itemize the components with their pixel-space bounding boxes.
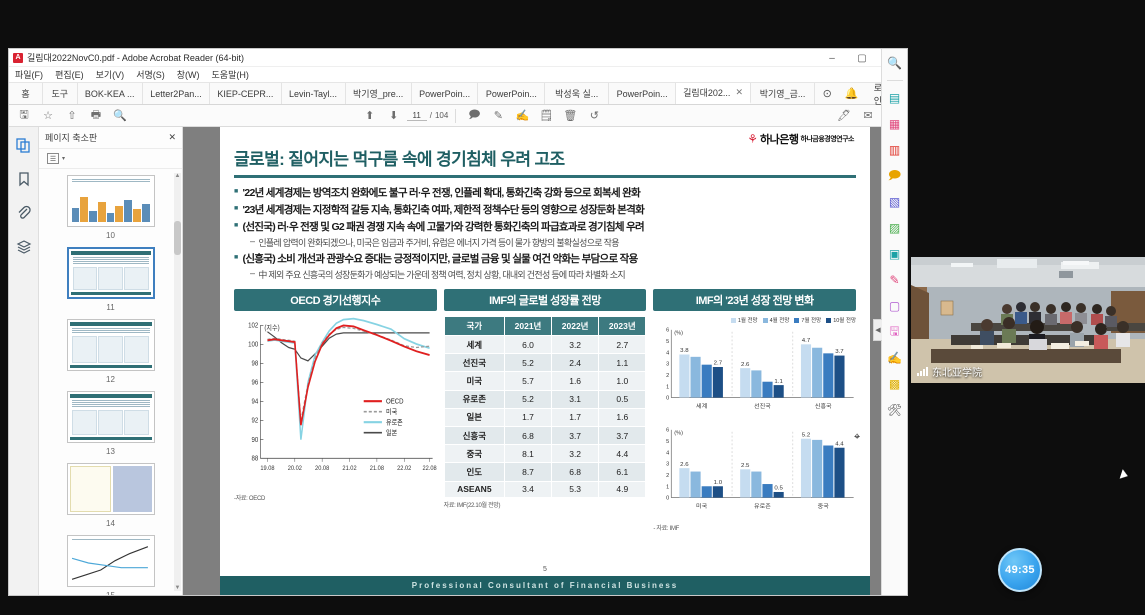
menu-file[interactable]: 파일(F) [15, 68, 43, 81]
table-row: 미국 5.7 1.6 1.0 [444, 372, 646, 390]
chart-panel-imf-table: IMF의 글로벌 성장률 전망 국가 2021년 2022년 2023년 [444, 289, 647, 564]
svg-text:4: 4 [666, 351, 669, 357]
table-row: ASEAN5 3.4 5.3 4.9 [444, 481, 646, 497]
svg-text:4.4: 4.4 [836, 441, 845, 447]
acrobat-body: 페이지 축소판 ✕ ☰ ▾ 1 [9, 127, 907, 595]
window-titlebar: A 길림대2022NovC0.pdf - Adobe Acrobat Reade… [9, 49, 907, 67]
page-title: 글로벌: 짙어지는 먹구름 속에 경기침체 우려 고조 [234, 145, 856, 170]
thumb-lines [70, 178, 152, 183]
attachment-icon[interactable] [14, 203, 34, 223]
svg-text:2.6: 2.6 [741, 362, 750, 368]
svg-text:21.02: 21.02 [342, 465, 357, 472]
scroll-up-icon[interactable]: ▲ [174, 173, 181, 179]
bullet-square-icon: ■ [234, 219, 238, 233]
table-row: 세계 6.0 3.2 2.7 [444, 336, 646, 354]
column-header: 2021년 [504, 317, 551, 336]
list-item: – 中 제외 주요 신흥국의 성장둔화가 예상되는 가운데 정책 여력, 정치 … [234, 268, 856, 281]
svg-text:2: 2 [666, 373, 669, 379]
svg-text:선진국: 선진국 [754, 402, 771, 410]
comment-icon[interactable]: 🗩 [463, 107, 485, 125]
svg-text:102: 102 [248, 322, 258, 329]
cell-2021: 8.1 [504, 445, 551, 463]
upload-cloud-icon[interactable]: ⇧ [61, 107, 83, 125]
tab-powerpoint-3[interactable]: PowerPoin... [609, 83, 676, 104]
combine-files-icon[interactable]: ▧ [886, 193, 904, 211]
menu-view[interactable]: 보기(V) [96, 68, 125, 81]
cell-country: 세계 [444, 336, 504, 354]
thumb-preview [70, 538, 152, 584]
cell-2021: 5.7 [504, 372, 551, 390]
current-page-input[interactable]: 11 [407, 111, 427, 121]
cell-2022: 3.7 [552, 426, 599, 444]
email-icon[interactable]: ✉ [857, 107, 879, 125]
compress-pdf-icon[interactable]: ▨ [886, 219, 904, 237]
legend-swatch [763, 318, 768, 323]
oecd-line-chart: 102 100 98 96 94 92 90 88 [234, 316, 437, 491]
thumb-right-page [113, 466, 152, 512]
layers-icon[interactable] [14, 237, 34, 257]
thumbnails-header: 페이지 축소판 ✕ [39, 127, 182, 149]
table-header-row: 국가 2021년 2022년 2023년 [444, 317, 646, 336]
redact-icon[interactable]: ▩ [886, 375, 904, 393]
pdf-page: ⚘ 하나은행 하나금융경영연구소 글로벌: 짙어지는 먹구름 속에 경기침체 우… [220, 127, 870, 595]
fill-sign-icon[interactable]: ✎ [886, 271, 904, 289]
title-divider [234, 175, 856, 178]
cell-country: 인도 [444, 463, 504, 481]
video-participant-tile[interactable]: 东北亚学院 [911, 257, 1145, 383]
bar-chart-top: 654 321 0 (%) [653, 324, 856, 416]
legend-swatch [794, 318, 799, 323]
cell-2022: 1.6 [552, 372, 599, 390]
cell-2022: 5.3 [552, 481, 599, 497]
menu-edit[interactable]: 편집(E) [55, 68, 84, 81]
thumbnail-page-number: 15 [39, 591, 182, 595]
thumb-bars [70, 184, 152, 224]
chart-panel-oecd: OECD 경기선행지수 102 [234, 289, 437, 564]
thumbnail-page-number: 11 [39, 303, 182, 312]
svg-text:90: 90 [252, 436, 259, 443]
bullet-dash-icon: – [250, 236, 254, 249]
thumb-line-chart [70, 542, 152, 584]
cell-2021: 5.2 [504, 390, 551, 408]
pdf-page-viewport[interactable]: ⚘ 하나은행 하나금융경영연구소 글로벌: 짙어지는 먹구름 속에 경기침체 우… [183, 127, 907, 595]
cell-country: ASEAN5 [444, 481, 504, 497]
svg-text:OECD: OECD [386, 398, 404, 405]
svg-text:100: 100 [248, 341, 258, 348]
svg-text:2.7: 2.7 [714, 361, 722, 367]
thumbnail-options-icon[interactable]: ☰ [47, 153, 59, 164]
svg-text:3: 3 [666, 462, 669, 468]
cell-2023: 3.7 [599, 426, 646, 444]
thumb-title-bar [70, 394, 152, 398]
svg-text:4: 4 [666, 451, 669, 457]
bookmark-icon[interactable] [14, 169, 34, 189]
meeting-timer-bubble[interactable]: 49:35 [998, 548, 1042, 592]
cell-2021: 6.0 [504, 336, 551, 354]
page-separator: / [430, 111, 432, 120]
table-row: 인도 8.7 6.8 6.1 [444, 463, 646, 481]
cell-2023: 4.4 [599, 445, 646, 463]
bar-chart-bottom: 654 321 0 (%) [653, 424, 856, 516]
main-toolbar: 🖫 ☆ ⇧ 🖶 🔍 ⬆ ⬇ 11 / 104 🗩 ✎ ✍ 🗒 🗑 ↺ 🖊 ✉ ☻ [9, 105, 907, 127]
bullet-text: 인플레 압력이 완화되겠으나, 미국은 임금과 주거비, 유럽은 에너지 가격 … [258, 236, 619, 249]
rail-divider [887, 80, 903, 81]
cell-country: 일본 [444, 408, 504, 426]
bullet-text: 中 제외 주요 신흥국의 성장둔화가 예상되는 가운데 정책 여력, 정치 상황… [258, 268, 625, 281]
thumb-preview [70, 466, 152, 512]
chart-source: - 자료: IMF [653, 523, 856, 532]
thumb-preview [70, 394, 152, 440]
list-item[interactable] [67, 535, 155, 587]
svg-text:92: 92 [252, 417, 259, 424]
tab-parkkiyoung-geum[interactable]: 박기영_금... [751, 83, 815, 104]
more-tools-icon[interactable]: 🛠 [886, 401, 904, 419]
svg-text:96: 96 [252, 379, 259, 386]
cell-2021: 8.7 [504, 463, 551, 481]
panel-title: IMF의 '23년 성장 전망 변화 [653, 289, 856, 311]
table-row: 중국 8.1 3.2 4.4 [444, 445, 646, 463]
thumb-footer-bar [70, 365, 152, 368]
legend-item: 10월 전망 [826, 316, 856, 324]
cell-2023: 6.1 [599, 463, 646, 481]
thumbnail-page-number: 10 [39, 231, 182, 240]
charts-row: OECD 경기선행지수 102 [234, 289, 856, 564]
tab-home[interactable]: 홈 [9, 83, 43, 104]
scroll-down-icon[interactable]: ▼ [174, 585, 181, 591]
thumb-title-bar [70, 322, 152, 326]
list-item: ■ '22년 세계경제는 방역조치 완화에도 불구 러·우 전쟁, 인플레 확대… [234, 185, 856, 200]
svg-text:신흥국: 신흥국 [815, 402, 832, 410]
close-icon[interactable]: ✕ [168, 132, 176, 143]
chart-panel-imf-forecast-change: IMF의 '23년 성장 전망 변화 1월 전망 4월 전망 7월 전망 10월… [653, 289, 856, 564]
hana-bank-logo-icon: ⚘ [747, 133, 758, 145]
svg-text:5: 5 [666, 439, 669, 445]
svg-text:19.08: 19.08 [260, 465, 275, 472]
cell-country: 선진국 [444, 354, 504, 372]
text-cursor: ⌖ [854, 431, 860, 444]
svg-text:1: 1 [666, 384, 669, 390]
thumbnail-page-number: 14 [39, 519, 182, 528]
thumb-preview [71, 251, 151, 295]
tab-gillimdae-2022[interactable]: 길림대202... ✕ [676, 83, 751, 104]
hana-bank-logo: ⚘ 하나은행 하나금융경영연구소 [747, 131, 854, 147]
create-pdf-icon[interactable]: ▤ [886, 89, 904, 107]
svg-text:21.08: 21.08 [370, 465, 385, 472]
maximize-button[interactable]: ▢ [847, 49, 877, 67]
svg-text:1.0: 1.0 [714, 480, 723, 486]
thumb-title-bar [71, 251, 151, 255]
svg-text:3.8: 3.8 [681, 348, 690, 354]
total-pages: 104 [435, 111, 448, 120]
svg-text:(%): (%) [675, 331, 684, 337]
page-down-icon[interactable]: ⬇ [383, 107, 405, 125]
svg-text:88: 88 [252, 455, 259, 462]
chevron-down-icon[interactable]: ▾ [62, 155, 65, 162]
svg-text:5.2: 5.2 [802, 432, 810, 438]
page-thumbnails-panel: 페이지 축소판 ✕ ☰ ▾ 1 [39, 127, 183, 595]
legend-item: 1월 전망 [731, 316, 758, 324]
stamp-icon[interactable]: 🗒 [535, 107, 557, 125]
edit-pdf-icon[interactable]: ▢ [886, 297, 904, 315]
svg-text:유로존: 유로존 [754, 503, 771, 510]
print-icon[interactable]: 🖶 [85, 107, 107, 125]
minimize-button[interactable]: – [817, 49, 847, 67]
tab-powerpoint-1[interactable]: PowerPoin... [412, 83, 479, 104]
cell-2022: 1.7 [552, 408, 599, 426]
bell-icon[interactable]: 🔔 [839, 83, 863, 104]
thumb-columns [70, 335, 152, 364]
cell-2023: 1.0 [599, 372, 646, 390]
cell-2021: 6.8 [504, 426, 551, 444]
list-item[interactable] [67, 463, 155, 515]
thumb-lines [70, 327, 152, 334]
bar-chart-legend: 1월 전망 4월 전망 7월 전망 10월 전망 [653, 316, 856, 324]
cell-country: 미국 [444, 372, 504, 390]
bullet-dash-icon: – [250, 268, 254, 281]
timer-value: 49:35 [1005, 564, 1035, 576]
cell-country: 신흥국 [444, 426, 504, 444]
menu-sign[interactable]: 서명(S) [136, 68, 165, 81]
chart-source: -자료: OECD [234, 493, 437, 502]
bullet-text: (선진국) 러·우 전쟁 및 G2 패권 경쟁 지속 속에 고물가와 강력한 통… [243, 219, 644, 234]
tab-powerpoint-2[interactable]: PowerPoin... [478, 83, 545, 104]
document-tabstrip: 홈 도구 BOK-KEA ... Letter2Pan... KIEP-CEPR… [9, 83, 907, 105]
thumbnails-toolbar: ☰ ▾ [39, 149, 182, 169]
svg-text:20.02: 20.02 [288, 465, 303, 472]
page-navigation: 11 / 104 [407, 111, 449, 121]
thumbnail-list[interactable]: 10 11 [39, 169, 182, 595]
svg-text:4.7: 4.7 [802, 338, 810, 344]
slide-content: ⚘ 하나은행 하나금융경영연구소 글로벌: 짙어지는 먹구름 속에 경기침체 우… [220, 127, 870, 564]
tools-rail: ◀ 🔍 ▤ ▦ ▥ 🗩 ▧ ▨ ▣ ✎ ▢ 🖫 ✍ ▩ 🛠 [881, 49, 907, 595]
cell-2022: 2.4 [552, 354, 599, 372]
list-item: ■ '23년 세계경제는 지정학적 갈등 지속, 통화긴축 여파, 제한적 정책… [234, 202, 856, 217]
help-circle-icon[interactable]: ⊙ [815, 83, 839, 104]
thumb-lines [71, 256, 151, 265]
thumbnail-scrollbar[interactable]: ▲ ▼ [174, 173, 181, 591]
panel-title: IMF의 글로벌 성장률 전망 [444, 289, 647, 311]
search-icon[interactable]: 🔍 [886, 54, 904, 72]
cell-2022: 3.2 [552, 336, 599, 354]
pencil-icon[interactable]: ✎ [487, 107, 509, 125]
svg-text:0.5: 0.5 [775, 486, 784, 492]
participant-name: 东北亚学院 [932, 364, 982, 379]
thumb-preview [70, 178, 152, 224]
list-item: ■ (선진국) 러·우 전쟁 및 G2 패권 경쟁 지속 속에 고물가와 강력한… [234, 219, 856, 234]
table-row: 선진국 5.2 2.4 1.1 [444, 354, 646, 372]
legend-label: 7월 전망 [801, 316, 821, 324]
save-icon[interactable]: 🖫 [13, 107, 35, 125]
acrobat-reader-window: A 길림대2022NovC0.pdf - Adobe Acrobat Reade… [8, 48, 908, 596]
svg-text:중국: 중국 [818, 503, 830, 510]
menu-window[interactable]: 창(W) [177, 68, 200, 81]
logo-institute: 하나금융경영연구소 [801, 134, 854, 144]
imf-growth-table: 국가 2021년 2022년 2023년 세계 [444, 316, 647, 498]
bullet-text: '22년 세계경제는 방역조치 완화에도 불구 러·우 전쟁, 인플레 확대, … [243, 185, 641, 200]
svg-text:2: 2 [666, 473, 669, 479]
svg-text:3.7: 3.7 [836, 349, 844, 355]
acrobat-logo-icon: A [13, 53, 23, 63]
tab-letter2pan[interactable]: Letter2Pan... [143, 83, 210, 104]
column-header: 국가 [444, 317, 504, 336]
logo-brand: 하나은행 [760, 131, 798, 147]
menu-bar: 파일(F) 편집(E) 보기(V) 서명(S) 창(W) 도움말(H) [9, 67, 907, 83]
svg-text:유로존: 유로존 [386, 418, 403, 427]
tab-kiep-cepr[interactable]: KIEP-CEPR... [210, 83, 281, 104]
participant-name-overlay: 东北亚学院 [917, 364, 982, 379]
list-item[interactable] [67, 391, 155, 443]
tab-label: 길림대202... [683, 86, 730, 99]
chart-source: 자료: IMF(22.10월 전망) [444, 500, 647, 509]
thumb-columns [70, 409, 152, 436]
toolbar-divider [455, 109, 456, 123]
export-pdf-icon[interactable]: ▥ [886, 141, 904, 159]
organize-pages-icon[interactable]: ▦ [886, 115, 904, 133]
cell-2022: 3.2 [552, 445, 599, 463]
panel-body: 1월 전망 4월 전망 7월 전망 10월 전망 654 [653, 311, 856, 564]
thumb-footer-bar [71, 292, 151, 295]
cell-country: 유로존 [444, 390, 504, 408]
thumb-footer-bar [70, 437, 152, 440]
column-header: 2022년 [552, 317, 599, 336]
bullet-square-icon: ■ [234, 185, 238, 199]
collapse-panel-icon[interactable]: ◀ [873, 319, 882, 341]
svg-text:6: 6 [666, 328, 669, 334]
star-icon[interactable]: ☆ [37, 107, 59, 125]
thumbnails-title: 페이지 축소판 [45, 131, 97, 144]
svg-text:미국: 미국 [696, 502, 708, 510]
thumb-lines [70, 538, 152, 541]
protect-icon[interactable]: ▣ [886, 245, 904, 263]
tab-close-icon[interactable]: ✕ [735, 87, 743, 98]
svg-text:22.08: 22.08 [422, 465, 436, 472]
svg-text:6: 6 [666, 428, 669, 434]
cell-2023: 4.9 [599, 481, 646, 497]
thumb-lines [70, 399, 152, 408]
menu-help[interactable]: 도움말(H) [212, 68, 249, 81]
thumb-columns [71, 266, 151, 291]
thumbnail-page-number: 12 [39, 375, 182, 384]
panel-title: OECD 경기선행지수 [234, 289, 437, 311]
tab-bok-kea[interactable]: BOK-KEA ... [78, 83, 143, 104]
tab-parkkiyoung-pre[interactable]: 박기영_pre... [346, 83, 412, 104]
svg-text:(%): (%) [675, 431, 684, 437]
cell-2021: 1.7 [504, 408, 551, 426]
thumb-left-page [70, 466, 111, 512]
list-item[interactable] [67, 247, 155, 299]
navigation-rail [9, 127, 39, 595]
svg-text:미국: 미국 [386, 407, 397, 417]
thumb-preview [70, 322, 152, 368]
svg-text:3: 3 [666, 362, 669, 368]
tab-tools[interactable]: 도구 [43, 83, 78, 104]
bullet-square-icon: ■ [234, 202, 238, 216]
list-item[interactable] [67, 319, 155, 371]
svg-text:98: 98 [252, 360, 259, 367]
zoom-search-icon[interactable]: 🔍 [109, 107, 131, 125]
bullet-text: (신흥국) 소비 개선과 관광수요 증대는 긍정적이지만, 글로벌 금융 및 실… [243, 251, 638, 266]
request-signature-icon[interactable]: ✍ [886, 349, 904, 367]
bullet-square-icon: ■ [234, 251, 238, 265]
legend-item: 7월 전망 [794, 316, 821, 324]
highlight-share-icon[interactable]: 🖊 [833, 107, 855, 125]
legend-label: 10월 전망 [833, 316, 856, 324]
legend-item: 4월 전망 [763, 316, 790, 324]
table-row: 유로존 5.2 3.1 0.5 [444, 390, 646, 408]
bullet-text: '23년 세계경제는 지정학적 갈등 지속, 통화긴축 여파, 제한적 정책수단… [243, 202, 645, 217]
legend-swatch [731, 318, 736, 323]
svg-text:0: 0 [666, 496, 669, 502]
cell-2023: 2.7 [599, 336, 646, 354]
svg-text:22.02: 22.02 [397, 465, 412, 472]
column-header: 2023년 [599, 317, 646, 336]
page-up-icon[interactable]: ⬆ [359, 107, 381, 125]
svg-text:일본: 일본 [386, 428, 397, 438]
svg-text:2.5: 2.5 [741, 463, 750, 469]
tab-levin-tayl[interactable]: Levin-Tayl... [282, 83, 346, 104]
trash-icon[interactable]: 🗑 [559, 107, 581, 125]
comment-icon[interactable]: 🗩 [886, 167, 904, 185]
cell-2021: 3.4 [504, 481, 551, 497]
sign-icon[interactable]: ✍ [511, 107, 533, 125]
bullet-list: ■ '22년 세계경제는 방역조치 완화에도 불구 러·우 전쟁, 인플레 확대… [234, 185, 856, 281]
list-item: ■ (신흥국) 소비 개선과 관광수요 증대는 긍정적이지만, 글로벌 금융 및… [234, 251, 856, 266]
list-item: – 인플레 압력이 완화되겠으나, 미국은 임금과 주거비, 유럽은 에너지 가… [234, 236, 856, 249]
table-row: 일본 1.7 1.7 1.6 [444, 408, 646, 426]
svg-text:0: 0 [666, 396, 669, 402]
cell-country: 중국 [444, 445, 504, 463]
signal-bars-icon [917, 367, 928, 376]
undo-icon[interactable]: ↺ [583, 107, 605, 125]
panel-body: 102 100 98 96 94 92 90 88 [234, 311, 437, 564]
thumbnail-page-number: 13 [39, 447, 182, 456]
svg-text:94: 94 [252, 398, 259, 405]
window-title: 길림대2022NovC0.pdf - Adobe Acrobat Reader … [27, 51, 244, 64]
svg-text:2.6: 2.6 [681, 462, 690, 468]
svg-text:5: 5 [666, 339, 669, 345]
cell-2022: 3.1 [552, 390, 599, 408]
svg-text:세계: 세계 [696, 402, 707, 410]
slide-footer: Professional Consultant of Financial Bus… [220, 576, 870, 595]
cell-2021: 5.2 [504, 354, 551, 372]
legend-swatch [826, 318, 831, 323]
save-as-icon[interactable]: 🖫 [886, 323, 904, 341]
table-row: 신흥국 6.8 3.7 3.7 [444, 426, 646, 444]
svg-text:(지수): (지수) [264, 323, 279, 333]
legend-label: 4월 전망 [770, 316, 790, 324]
svg-text:1.1: 1.1 [775, 379, 784, 385]
tab-parksungwook[interactable]: 박성욱 실... [545, 83, 609, 104]
slide-page-number: 5 [220, 564, 870, 576]
cell-2023: 0.5 [599, 390, 646, 408]
svg-text:20.08: 20.08 [315, 465, 330, 472]
pages-icon[interactable] [14, 135, 34, 155]
panel-body: 국가 2021년 2022년 2023년 세계 [444, 311, 647, 564]
cell-2023: 1.1 [599, 354, 646, 372]
list-item[interactable] [67, 175, 155, 227]
scrollbar-thumb[interactable] [174, 221, 181, 255]
cell-2022: 6.8 [552, 463, 599, 481]
legend-label: 1월 전망 [738, 316, 758, 324]
cell-2023: 1.6 [599, 408, 646, 426]
svg-text:1: 1 [666, 484, 669, 490]
